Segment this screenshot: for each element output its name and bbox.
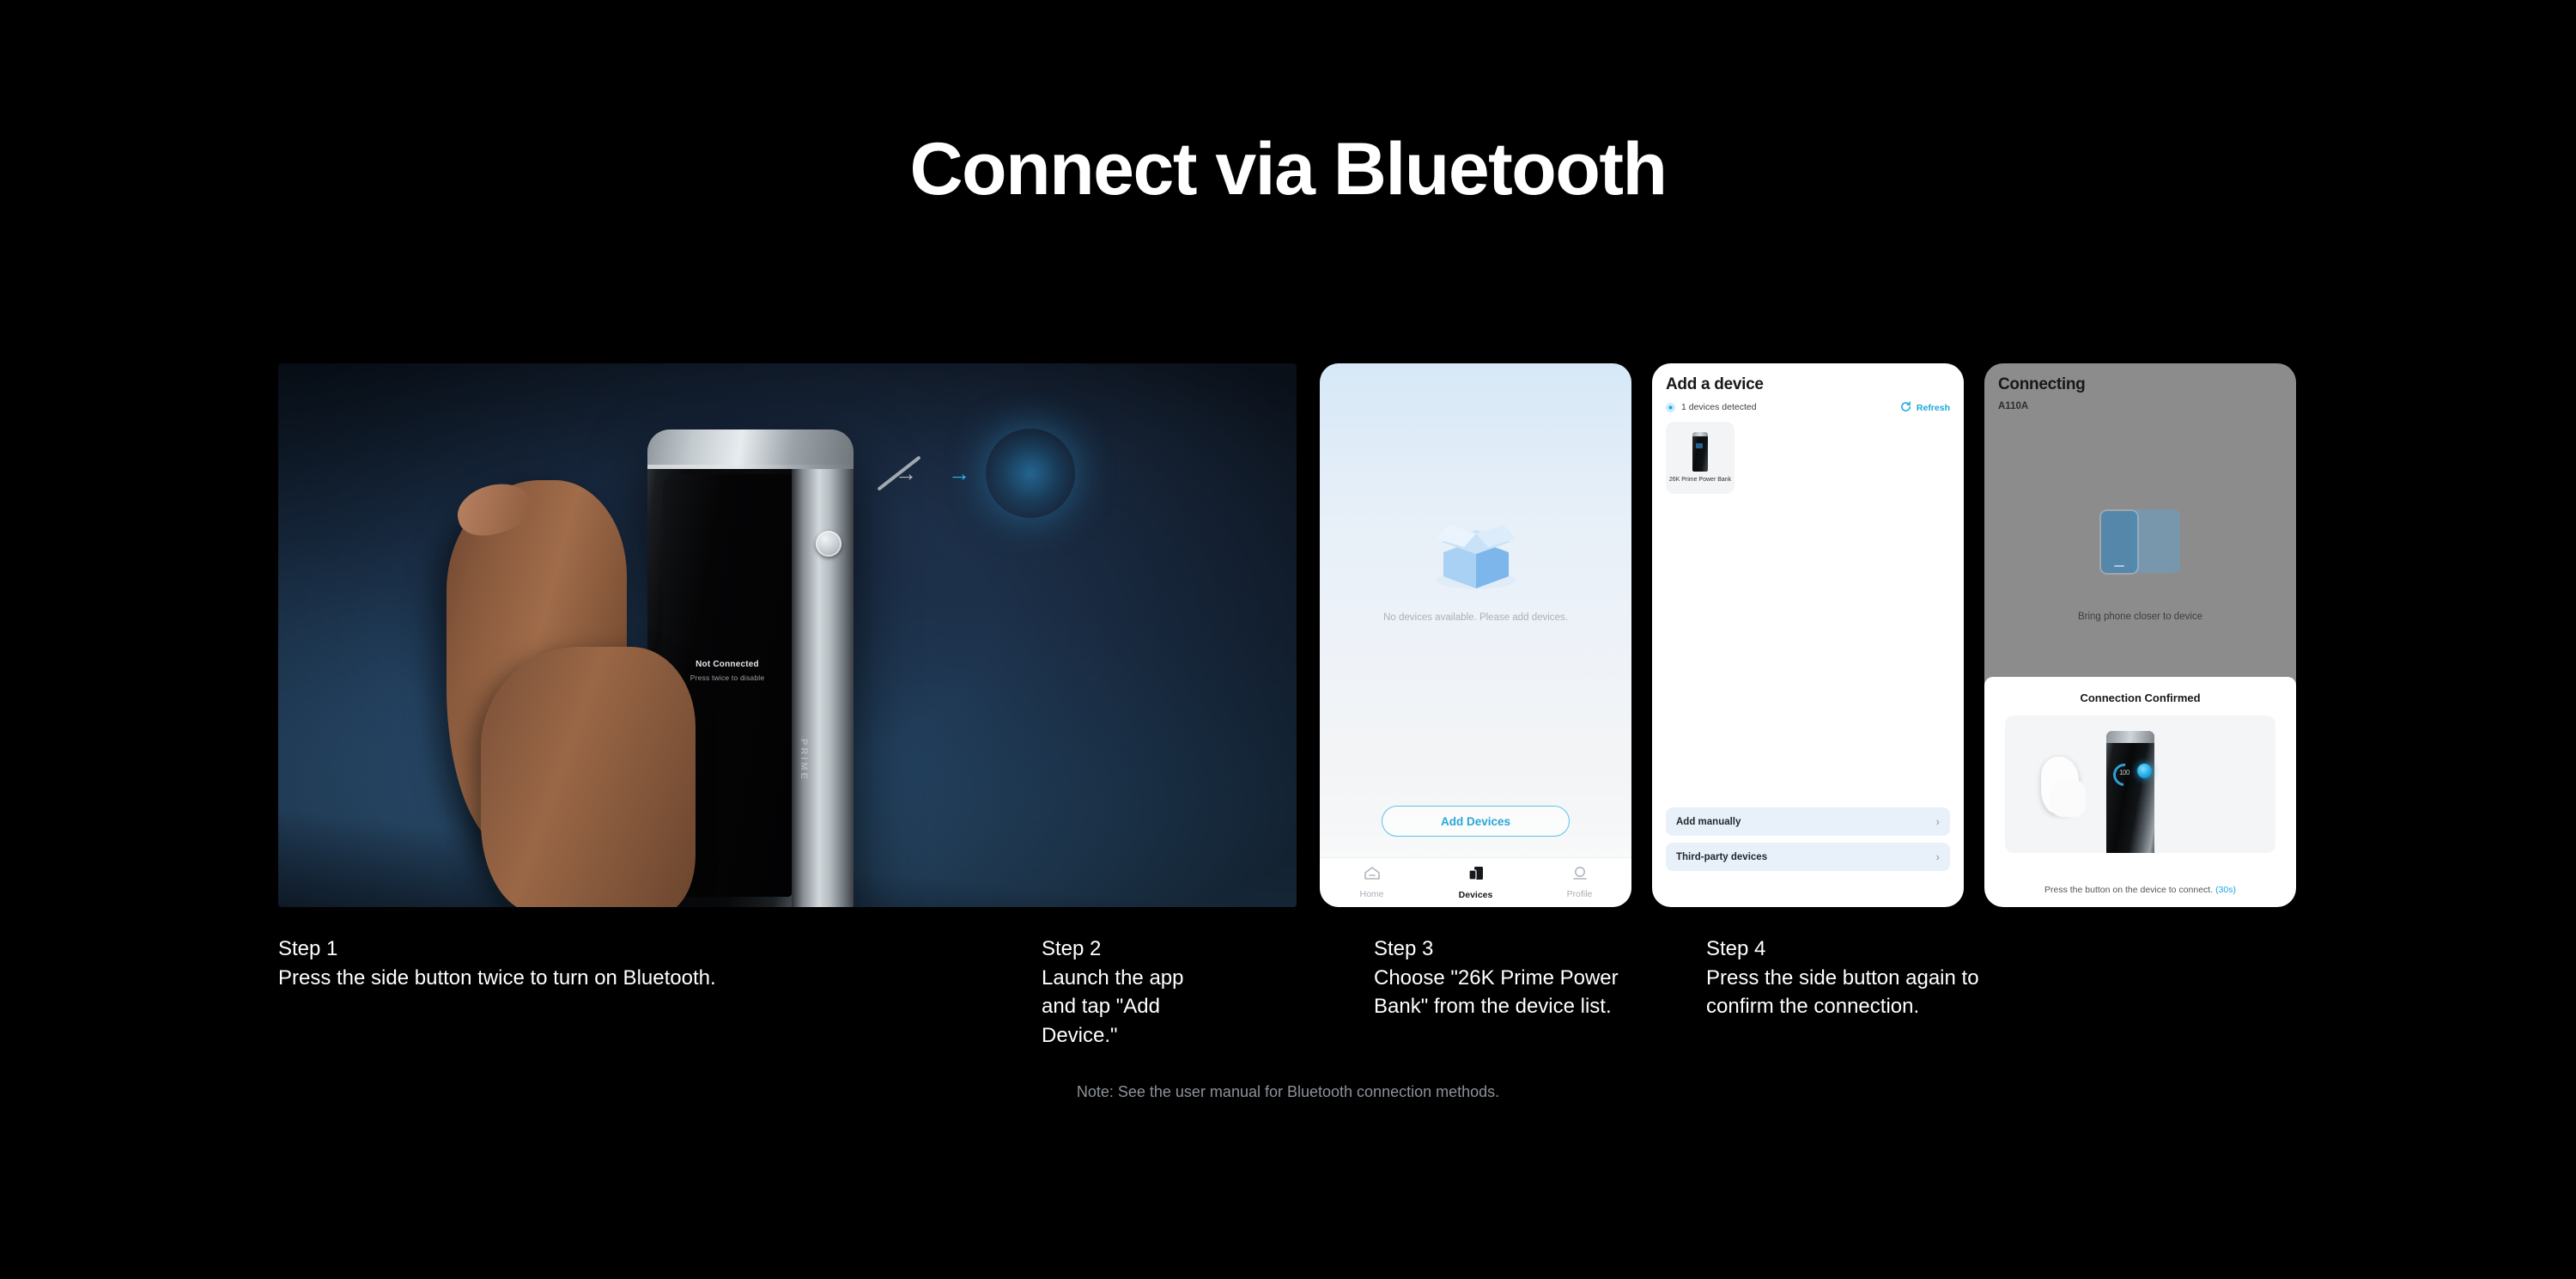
list-item-add-manually[interactable]: Add manually ›	[1666, 807, 1950, 836]
profile-icon	[1571, 866, 1589, 885]
device-brand-label: PRIME	[799, 739, 809, 782]
footer-note: Note: See the user manual for Bluetooth …	[0, 1083, 2576, 1101]
hand-knuckles	[481, 647, 696, 907]
press-button-illustration: 100	[2005, 716, 2275, 853]
modal-note: Press the button on the device to connec…	[1984, 885, 2296, 895]
panel-add-devices: No devices available. Please add devices…	[1320, 363, 1631, 907]
panel-title: Add a device	[1666, 375, 1764, 394]
empty-state-message: No devices available. Please add devices…	[1356, 611, 1595, 626]
power-bank-illustration: 100	[2106, 731, 2154, 853]
chevron-right-icon: ›	[1936, 850, 1940, 863]
refresh-icon	[1900, 401, 1911, 415]
panel-connecting: Connecting A110A Bring phone closer to d…	[1984, 363, 2296, 907]
step-1-text: Press the side button twice to turn on B…	[278, 966, 716, 990]
nav-label-profile: Profile	[1567, 889, 1593, 899]
device-side-button[interactable]	[816, 531, 841, 557]
nav-item-home[interactable]: Home	[1320, 866, 1424, 899]
connection-confirmed-modal: Connection Confirmed 100 Press the butto…	[1984, 677, 2296, 907]
bluetooth-state-sequence: ᚝ → ᚝ → ᚝	[879, 429, 1075, 518]
nav-item-devices[interactable]: Devices	[1424, 866, 1528, 900]
step-4-text: Press the side button again to confirm t…	[1706, 966, 1979, 1019]
open-box-icon	[1320, 501, 1631, 597]
detected-count-label: 1 devices detected	[1681, 402, 1757, 412]
panel-title: Connecting	[1998, 375, 2086, 394]
modal-title: Connection Confirmed	[1984, 691, 2296, 704]
refresh-button[interactable]: Refresh	[1900, 401, 1950, 415]
modal-note-text: Press the button on the device to connec…	[2044, 885, 2213, 895]
page-title: Connect via Bluetooth	[0, 127, 2576, 212]
pointing-hand-icon	[2050, 779, 2086, 817]
hero-image-step1: ᚝ Not Connected Press twice to disable P…	[278, 363, 1297, 907]
add-devices-button[interactable]: Add Devices	[1382, 806, 1570, 837]
device-id-label: A110A	[1998, 401, 2028, 411]
devices-icon	[1467, 866, 1485, 886]
refresh-label: Refresh	[1917, 403, 1950, 413]
connecting-hint: Bring phone closer to device	[1984, 612, 2296, 622]
step-3: Step 3 Choose "26K Prime Power Bank" fro…	[1374, 935, 1657, 1021]
step-4: Step 4 Press the side button again to co…	[1706, 935, 1990, 1021]
list-item-label: Add manually	[1676, 817, 1741, 827]
step-4-number: Step 4	[1706, 935, 1990, 964]
list-item-label: Third-party devices	[1676, 852, 1767, 862]
device-top-cap	[647, 429, 854, 469]
step-3-text: Choose "26K Prime Power Bank" from the d…	[1374, 966, 1619, 1019]
arrow-right-blue-icon: →	[948, 460, 970, 487]
device-side-button-highlight[interactable]	[2137, 764, 2152, 778]
list-item-third-party[interactable]: Third-party devices ›	[1666, 843, 1950, 871]
bluetooth-icon: ᚝	[663, 615, 792, 644]
nav-label-devices: Devices	[1459, 890, 1493, 900]
device-tile[interactable]: 26K Prime Power Bank	[1666, 422, 1735, 494]
phone-and-device-icon	[1984, 509, 2296, 573]
battery-percent-label: 100	[2113, 769, 2136, 777]
bottom-nav: Home Devices Profile	[1320, 857, 1631, 907]
detected-status: 1 devices detected	[1666, 402, 1757, 412]
step-2: Step 2 Launch the app and tap "Add Devic…	[1042, 935, 1213, 1050]
device-tile-label: 26K Prime Power Bank	[1666, 477, 1735, 483]
step-2-text: Launch the app and tap "Add Device."	[1042, 966, 1183, 1047]
bluetooth-active-icon: ᚝	[986, 429, 1075, 518]
chevron-right-icon: ›	[1936, 815, 1940, 828]
nav-item-profile[interactable]: Profile	[1528, 866, 1631, 899]
panel-add-a-device: Add a device 1 devices detected Refresh …	[1652, 363, 1964, 907]
home-icon	[1364, 866, 1381, 885]
power-bank-icon	[1692, 432, 1708, 472]
nav-label-home: Home	[1359, 889, 1383, 899]
phone-shape	[2101, 511, 2137, 573]
device-status-text: Not Connected	[663, 660, 792, 669]
device-shape	[2131, 509, 2180, 573]
step-2-number: Step 2	[1042, 935, 1213, 964]
modal-timer: (30s)	[2215, 885, 2236, 895]
step-3-number: Step 3	[1374, 935, 1657, 964]
scanning-dot-icon	[1666, 403, 1675, 412]
